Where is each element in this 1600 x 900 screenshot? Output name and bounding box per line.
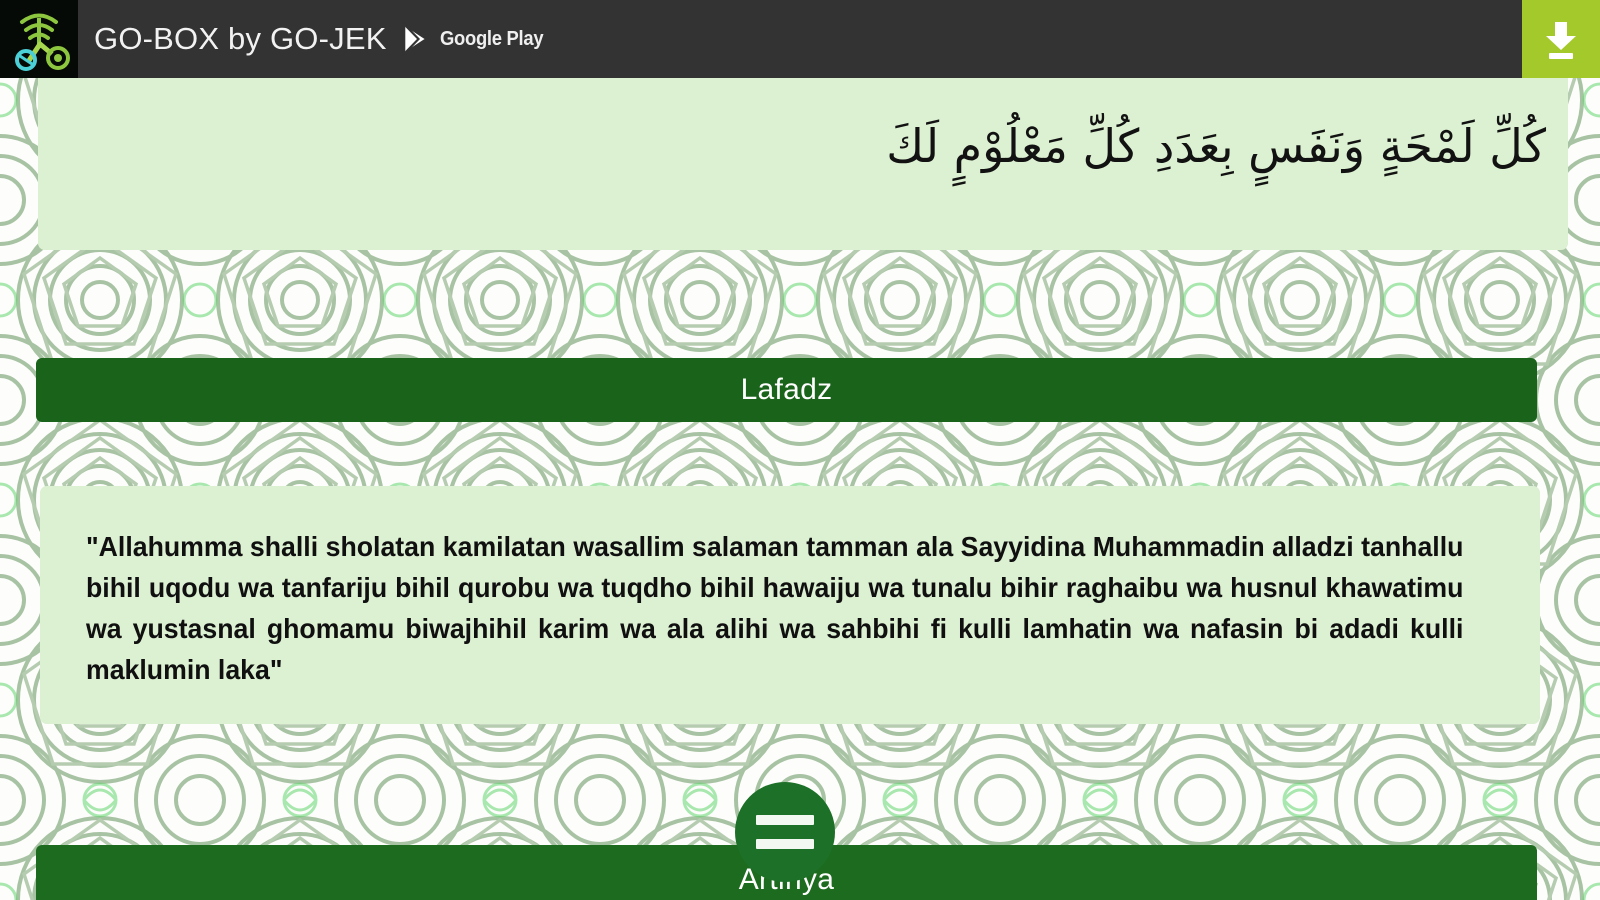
ad-install-button[interactable] bbox=[1522, 0, 1600, 78]
gojek-gobox-app-icon bbox=[0, 0, 78, 78]
page-content: كُلِّ لَمْحَةٍ وَنَفَسٍ بِعَدَدِ كُلِّ م… bbox=[0, 0, 1600, 900]
google-play-ad-banner[interactable]: GO-BOX by GO-JEK Google Play bbox=[0, 0, 1600, 78]
lafadz-button-label: Lafadz bbox=[741, 373, 833, 407]
transliteration-text: "Allahumma shalli sholatan kamilatan was… bbox=[86, 526, 1463, 690]
menu-list-icon bbox=[756, 815, 814, 825]
google-play-icon bbox=[401, 22, 431, 56]
app-root: كُلِّ لَمْحَةٍ وَنَفَسٍ بِعَدَدِ كُلِّ م… bbox=[0, 0, 1600, 900]
lafadz-section-button[interactable]: Lafadz bbox=[36, 358, 1537, 422]
menu-list-fab-button[interactable] bbox=[735, 782, 835, 882]
download-arrow-icon bbox=[1538, 16, 1584, 62]
google-play-badge: Google Play bbox=[401, 22, 552, 56]
google-play-label: Google Play bbox=[440, 28, 543, 51]
transliteration-card: "Allahumma shalli sholatan kamilatan was… bbox=[40, 486, 1540, 724]
ad-app-title: GO-BOX by GO-JEK bbox=[94, 21, 387, 57]
arabic-verse-card: كُلِّ لَمْحَةٍ وَنَفَسٍ بِعَدَدِ كُلِّ م… bbox=[38, 58, 1568, 250]
ad-text-group: GO-BOX by GO-JEK Google Play bbox=[94, 21, 1522, 57]
arabic-verse-text: كُلِّ لَمْحَةٍ وَنَفَسٍ بِعَدَدِ كُلِّ م… bbox=[886, 111, 1546, 190]
menu-list-icon-bar-2 bbox=[756, 839, 814, 849]
